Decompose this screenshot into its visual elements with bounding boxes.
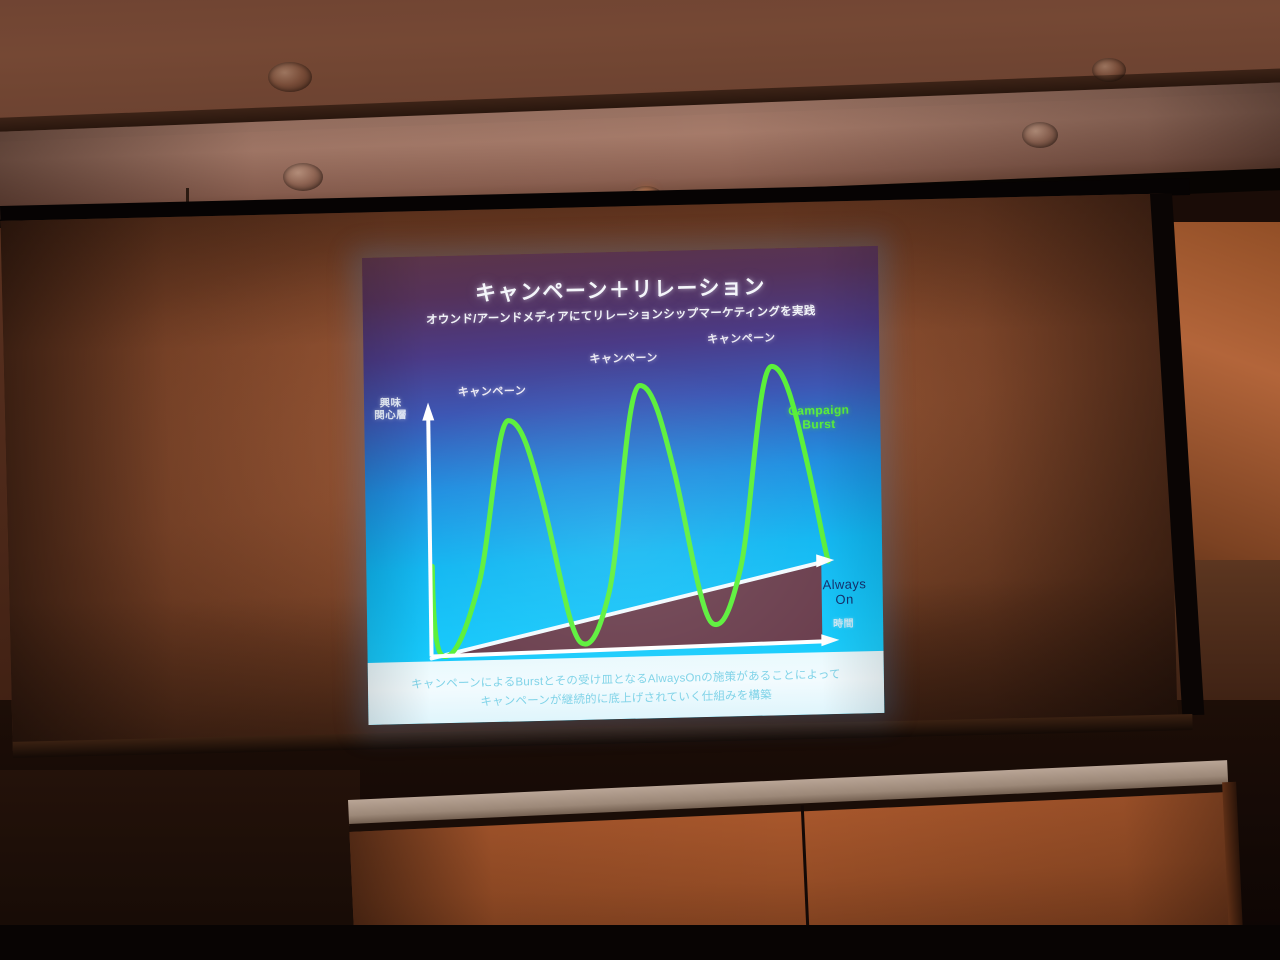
floor-shadow xyxy=(0,925,1280,960)
downlight-icon-6 xyxy=(1022,122,1058,148)
room-scene: キャンペーン＋リレーション オウンド/アーンドメディアにてリレーションシップマー… xyxy=(0,0,1280,960)
x-axis-label: 時間 xyxy=(833,619,854,631)
caption-line-2: キャンペーンが継続的に底上げされていく仕組みを構築 xyxy=(480,686,772,709)
y-axis-label: 興味 関心層 xyxy=(374,397,407,423)
peak-label-1: キャンペーン xyxy=(458,385,527,400)
downlight-icon-2 xyxy=(1092,58,1126,82)
downlight-icon-3 xyxy=(283,163,323,191)
downlight-icon-1 xyxy=(268,62,312,92)
always-on-annotation: Always On xyxy=(822,576,866,608)
peak-label-3: キャンペーン xyxy=(707,332,776,347)
y-axis-arrowhead xyxy=(422,402,434,420)
campaign-burst-annotation: Campaign Burst xyxy=(788,403,850,433)
projected-slide: キャンペーン＋リレーション オウンド/アーンドメディアにてリレーションシップマー… xyxy=(362,246,884,725)
y-axis-line xyxy=(428,412,431,656)
caption-line-1: キャンペーンによるBurstとその受け皿となるAlwaysOnの施策があることに… xyxy=(411,665,841,691)
x-axis-arrowhead xyxy=(821,634,839,646)
slide-caption: キャンペーンによるBurstとその受け皿となるAlwaysOnの施策があることに… xyxy=(368,651,885,725)
peak-label-2: キャンペーン xyxy=(589,352,658,367)
